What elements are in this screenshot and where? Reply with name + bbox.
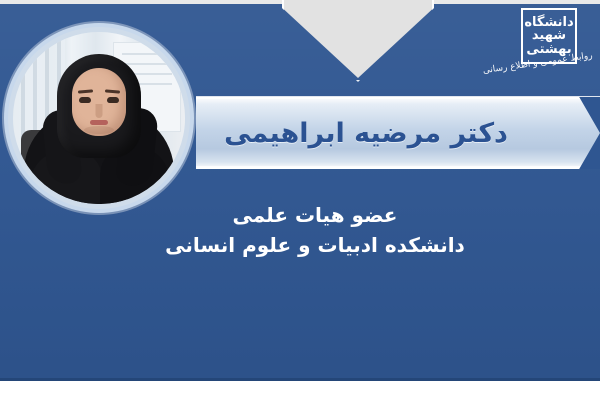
logo-line-1: دانشگاه (524, 16, 573, 30)
logo-line-2: شهید (532, 29, 566, 43)
faculty-profile-banner: دانشگاه شهید بهشتی روابط عمومی و اطلاع ر… (0, 0, 600, 400)
bottom-white-strip (0, 381, 600, 400)
photo-face (72, 68, 126, 136)
university-logo: دانشگاه شهید بهشتی روابط عمومی و اطلاع ر… (489, 6, 593, 88)
photo-eyebrow-right (105, 89, 120, 93)
photo-mouth (90, 120, 108, 125)
photo-nose (96, 104, 103, 118)
role-line-2: دانشکده ادبیات و علوم انسانی (150, 230, 480, 260)
photo-eyebrow-left (78, 89, 93, 93)
role-block: عضو هیات علمی دانشکده ادبیات و علوم انسا… (150, 200, 480, 260)
photo-chin-shadow (84, 126, 114, 134)
photo-eye-left (79, 97, 91, 103)
role-line-1: عضو هیات علمی (150, 200, 480, 230)
avatar (8, 27, 190, 209)
portrait-photo (13, 32, 185, 204)
photo-eye-right (107, 97, 119, 103)
page-title: دکتر مرضیه ابراهیمی (196, 97, 536, 169)
